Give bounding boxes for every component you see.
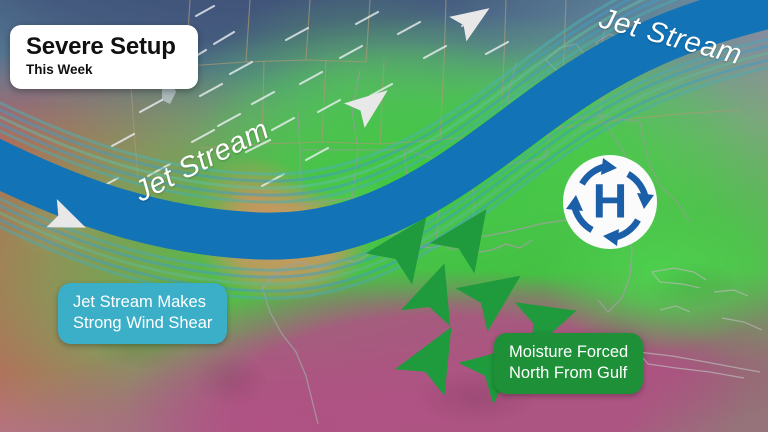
high-pressure-symbol: H: [560, 152, 660, 252]
moisture-arrow-3: [456, 253, 536, 332]
gulf-moisture-callout: Moisture Forced North From Gulf: [494, 333, 643, 394]
moisture-arrow-6: [395, 313, 474, 396]
subhead-text: This Week: [26, 63, 176, 78]
headline-text: Severe Setup: [26, 34, 176, 59]
weather-map-graphic: Jet Stream Jet Stream: [0, 0, 768, 432]
wind-shear-callout: Jet Stream Makes Strong Wind Shear: [58, 283, 227, 344]
moisture-arrow-2: [430, 193, 508, 273]
high-pressure-letter: H: [593, 176, 628, 229]
title-card: Severe Setup This Week: [10, 25, 198, 89]
